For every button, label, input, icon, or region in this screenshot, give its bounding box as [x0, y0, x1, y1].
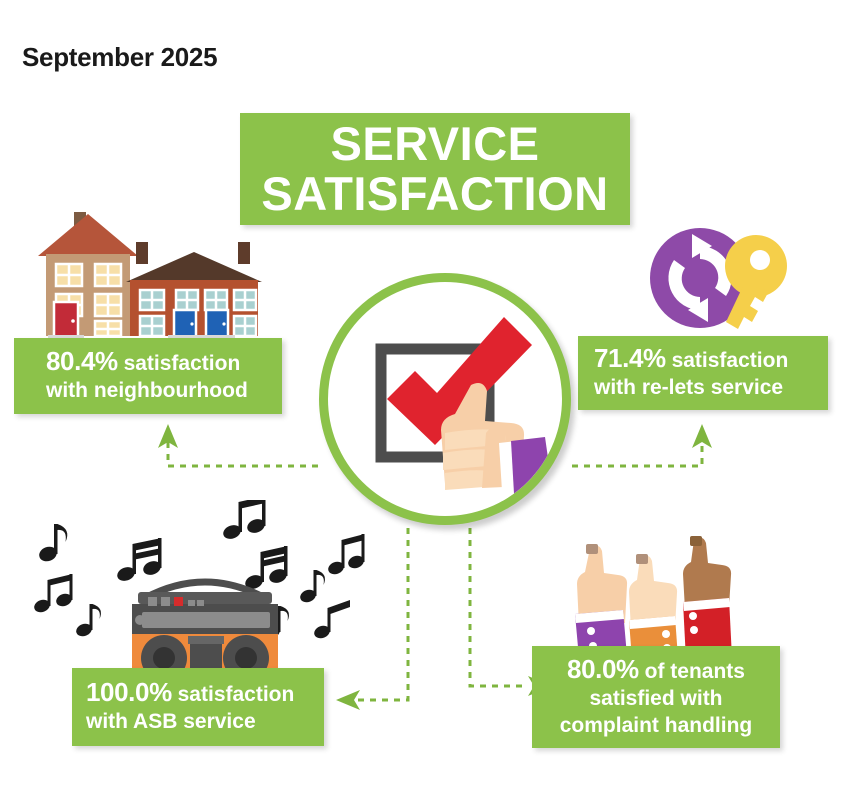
key-recycle-icon	[648, 226, 798, 346]
thumb-hand-orange	[629, 554, 678, 660]
key-icon	[725, 235, 787, 329]
title-line-1: SERVICE	[331, 119, 540, 169]
stat-line-2: with ASB service	[86, 708, 324, 735]
stat-value-suffix: satisfaction	[666, 349, 789, 372]
stat-line-2: satisfied with	[589, 685, 722, 712]
stat-label-complaints: 80.0% of tenants satisfied with complain…	[532, 646, 780, 748]
stat-value: 80.0%	[567, 654, 639, 684]
thumb-hand-red	[683, 536, 732, 660]
stat-value-suffix: satisfaction	[118, 352, 241, 375]
center-satisfaction-badge	[319, 273, 571, 525]
stat-value-suffix: satisfaction	[172, 683, 295, 706]
stat-label-relets: 71.4% satisfaction with re-lets service	[578, 336, 828, 410]
houses-icon	[16, 204, 296, 354]
stat-label-neighbourhood: 80.4% satisfaction with neighbourhood	[14, 338, 282, 414]
stat-value: 71.4%	[594, 343, 666, 373]
title-line-2: SATISFACTION	[261, 169, 608, 219]
stat-line-2: with neighbourhood	[46, 377, 282, 404]
stat-label-asb: 100.0% satisfaction with ASB service	[72, 668, 324, 746]
stat-line-3: complaint handling	[560, 712, 753, 739]
stat-value: 100.0%	[86, 677, 172, 707]
stat-value: 80.4%	[46, 346, 118, 376]
thumbs-up-checkbox-icon	[319, 273, 571, 525]
stat-line-1: 71.4% satisfaction	[594, 345, 828, 374]
thumbs-up-hands-icon	[536, 536, 756, 661]
title-banner: SERVICE SATISFACTION	[240, 113, 630, 225]
infographic-canvas: September 2025	[0, 0, 850, 787]
stat-line-1: 80.0% of tenants	[567, 656, 745, 685]
stat-line-2: with re-lets service	[594, 374, 828, 401]
thumb-hand-purple	[575, 544, 627, 658]
boombox-icon	[30, 500, 370, 685]
stat-line-1: 80.4% satisfaction	[46, 348, 282, 377]
stat-line-1: 100.0% satisfaction	[86, 679, 324, 708]
stat-value-suffix: of tenants	[639, 660, 745, 683]
